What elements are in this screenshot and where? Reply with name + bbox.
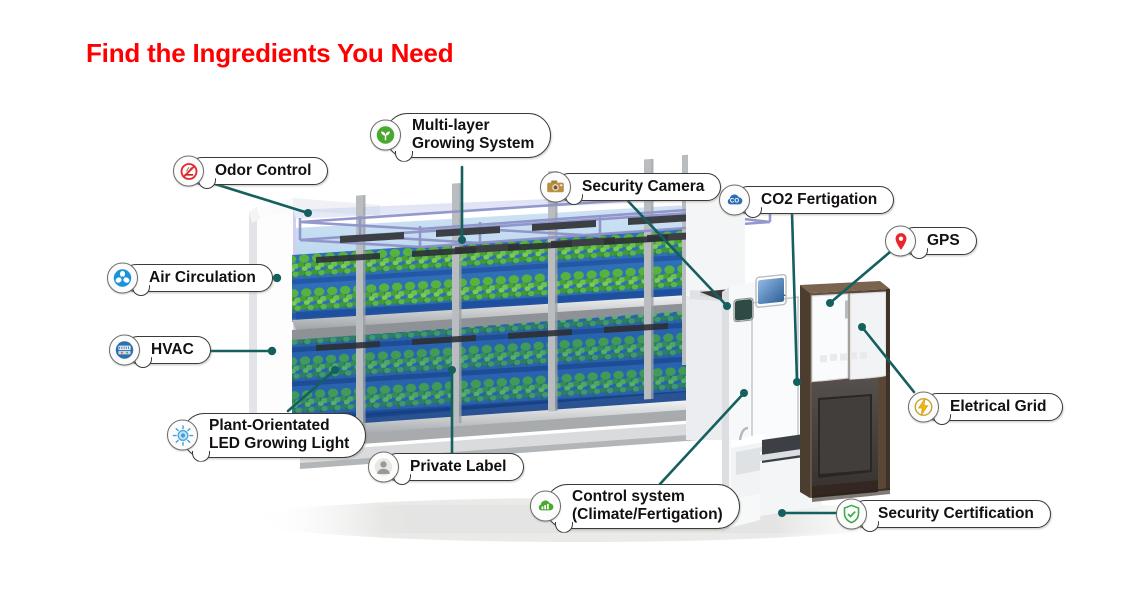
callout-pill[interactable]: Control system (Climate/Fertigation) [545, 484, 740, 529]
led-light-icon [167, 420, 198, 451]
callout-label: Security Certification [878, 505, 1034, 523]
callout-label: CO2 Fertigation [761, 191, 877, 209]
callout-control-system[interactable]: Control system (Climate/Fertigation) [545, 484, 740, 529]
callout-security-camera[interactable]: Security Camera [555, 173, 721, 201]
callout-label-line1: Multi-layer [412, 117, 534, 135]
callout-label-line2: Growing System [412, 135, 534, 153]
callout-electrical-grid[interactable]: Eletrical Grid [923, 393, 1063, 421]
callout-pill[interactable]: GPS [900, 227, 977, 255]
lightning-bolt-icon [908, 392, 939, 423]
callout-label: Security Camera [582, 178, 704, 196]
callout-pill[interactable]: Plant-Orientated LED Growing Light [182, 413, 366, 458]
callout-pill[interactable]: Private Label [383, 453, 524, 481]
callout-multi-layer-growing-system[interactable]: Multi-layer Growing System [385, 113, 551, 158]
cloud-chart-icon [530, 491, 561, 522]
callout-label-line2: (Climate/Fertigation) [572, 506, 723, 524]
callout-pill[interactable]: HVAC [124, 336, 211, 364]
callout-label-line1: Control system [572, 488, 723, 506]
no-odor-icon [173, 156, 204, 187]
callout-pill[interactable]: Multi-layer Growing System [385, 113, 551, 158]
user-icon [368, 452, 399, 483]
callout-pill[interactable]: Eletrical Grid [923, 393, 1063, 421]
co2-cloud-icon: CO [719, 185, 750, 216]
leaf-icon [370, 120, 401, 151]
callout-odor-control[interactable]: Odor Control [188, 157, 328, 185]
callout-led-growing-light[interactable]: Plant-Orientated LED Growing Light [182, 413, 366, 458]
callout-gps[interactable]: GPS [900, 227, 977, 255]
callout-hvac[interactable]: HVAC [124, 336, 211, 364]
callout-label: Private Label [410, 458, 507, 476]
fan-icon [107, 263, 138, 294]
callout-label: GPS [927, 232, 960, 250]
callout-security-certification[interactable]: Security Certification [851, 500, 1051, 528]
callout-label: Eletrical Grid [950, 398, 1046, 416]
callout-private-label[interactable]: Private Label [383, 453, 524, 481]
callout-label: Air Circulation [149, 269, 256, 287]
callout-pill[interactable]: Air Circulation [122, 264, 273, 292]
callout-label: Odor Control [215, 162, 311, 180]
diagram-canvas: Find the Ingredients You Need [0, 0, 1146, 604]
hvac-icon [109, 335, 140, 366]
camera-icon [540, 172, 571, 203]
callout-air-circulation[interactable]: Air Circulation [122, 264, 273, 292]
callout-label-line1: Plant-Orientated [209, 417, 349, 435]
callout-pill[interactable]: Security Camera [555, 173, 721, 201]
svg-text:CO: CO [730, 198, 739, 205]
callout-pill[interactable]: CO CO2 Fertigation [734, 186, 894, 214]
callout-pill[interactable]: Security Certification [851, 500, 1051, 528]
callout-pill[interactable]: Odor Control [188, 157, 328, 185]
shield-check-icon [836, 499, 867, 530]
callout-co2-fertigation[interactable]: CO CO2 Fertigation [734, 186, 894, 214]
callout-label-line2: LED Growing Light [209, 435, 349, 453]
callout-label: HVAC [151, 341, 194, 359]
map-pin-icon [885, 226, 916, 257]
